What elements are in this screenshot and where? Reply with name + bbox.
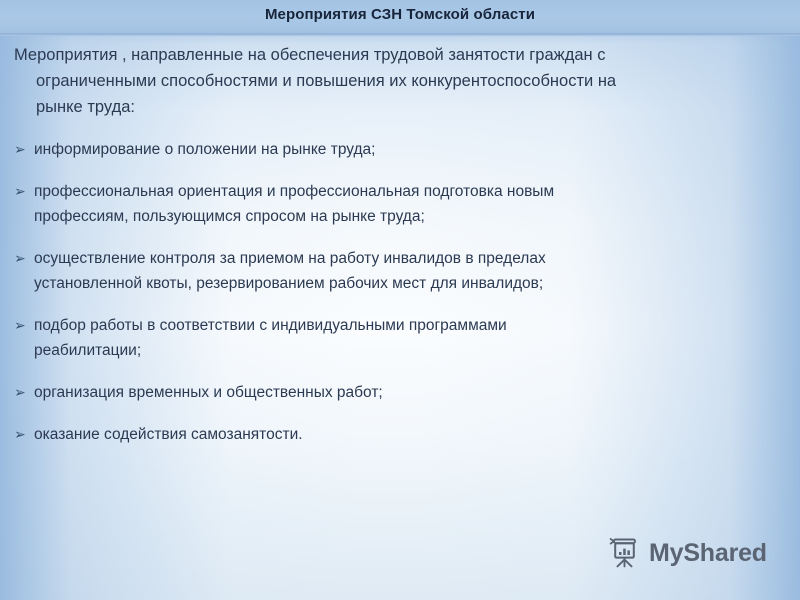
list-item-line-1: организация временных и общественных раб… (34, 384, 383, 401)
list-item: ➢ оказание содействия самозанятости. (0, 422, 800, 447)
list-item: ➢ подбор работы в соответствии с индивид… (0, 313, 800, 363)
myshared-watermark: MyShared (608, 536, 767, 570)
arrow-bullet-icon: ➢ (14, 179, 26, 204)
measures-list: ➢ информирование о положении на рынке тр… (0, 137, 800, 447)
intro-line-3: рынке труда: (14, 94, 740, 120)
list-item-line-2: профессиям, пользующимся спросом на рынк… (34, 204, 750, 229)
intro-line-1: Мероприятия , направленные на обеспечени… (14, 46, 605, 64)
list-item-line-1: профессиональная ориентация и профессион… (34, 183, 554, 200)
slide-canvas: Мероприятия СЗН Томской области Мероприя… (0, 0, 800, 600)
list-item-line-1: информирование о положении на рынке труд… (34, 141, 375, 158)
arrow-bullet-icon: ➢ (14, 137, 26, 162)
slide-content: Мероприятия , направленные на обеспечени… (0, 42, 800, 447)
list-item-line-1: подбор работы в соответствии с индивидуа… (34, 317, 507, 334)
watermark-label: MyShared (649, 541, 767, 566)
list-item-line-1: осуществление контроля за приемом на раб… (34, 250, 546, 267)
list-item: ➢ профессиональная ориентация и професси… (0, 179, 800, 229)
arrow-bullet-icon: ➢ (14, 246, 26, 271)
list-item: ➢ информирование о положении на рынке тр… (0, 137, 800, 162)
arrow-bullet-icon: ➢ (14, 380, 26, 405)
intro-line-2: ограниченными способностями и повышения … (14, 68, 740, 94)
flipchart-bar-chart-icon (608, 536, 642, 570)
page-title: Мероприятия СЗН Томской области (0, 6, 800, 23)
list-item-line-2: установленной квоты, резервированием раб… (34, 271, 750, 296)
list-item: ➢ осуществление контроля за приемом на р… (0, 246, 800, 296)
arrow-bullet-icon: ➢ (14, 422, 26, 447)
list-item-line-2: реабилитации; (34, 338, 750, 363)
list-item-line-1: оказание содействия самозанятости. (34, 426, 303, 443)
arrow-bullet-icon: ➢ (14, 313, 26, 338)
header-divider (0, 33, 800, 36)
list-item: ➢ организация временных и общественных р… (0, 380, 800, 405)
intro-paragraph: Мероприятия , направленные на обеспечени… (0, 42, 800, 120)
